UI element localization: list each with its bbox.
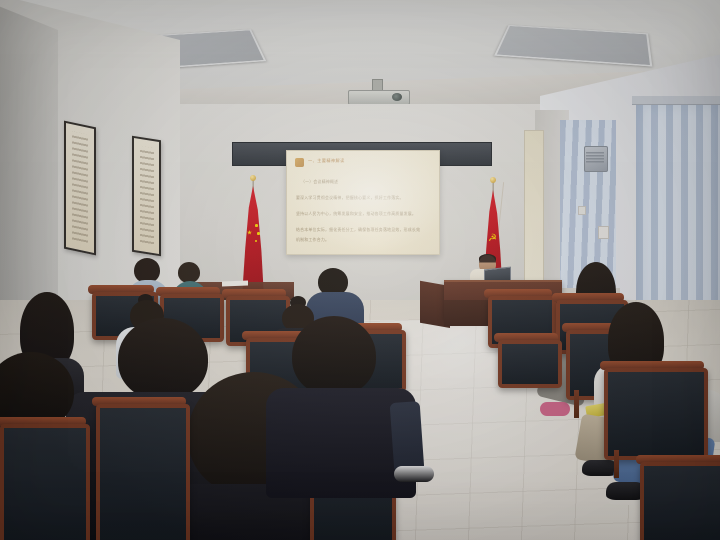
light-switch-icon[interactable]: [598, 226, 609, 239]
projection-screen: 一、主要精神解读 （一）会议精神概述 要深入学习贯彻会议精神，把握核心要义，抓好…: [286, 150, 440, 255]
scroll-ink: [140, 146, 154, 247]
wall-ac-vent-icon: [586, 152, 604, 164]
chair-back: [96, 404, 190, 540]
blinds-rail[interactable]: [632, 96, 720, 105]
flag-finial-icon: [250, 175, 256, 181]
scroll-ink: [72, 132, 88, 244]
wall-outlet-icon: [578, 206, 586, 215]
chair-back: [640, 462, 720, 540]
shoe: [394, 466, 434, 482]
chair-leg: [574, 390, 579, 418]
chair-back: [604, 368, 708, 460]
head: [292, 316, 376, 396]
chair[interactable]: [640, 462, 720, 540]
chair[interactable]: [0, 424, 82, 540]
head: [178, 262, 200, 283]
ceiling-projector: [348, 84, 408, 102]
chair-leg: [614, 450, 619, 478]
head: [118, 318, 208, 400]
hammer-sickle-icon: ☭: [488, 234, 497, 245]
leg: [390, 401, 425, 473]
chair-back: [498, 340, 562, 388]
vertical-blinds-right[interactable]: [636, 100, 720, 330]
front-window-strip: [524, 130, 544, 282]
projector-lens-icon: [392, 93, 402, 101]
calligraphy-scroll-2: [132, 136, 161, 257]
paper-sheet: [222, 281, 248, 287]
flag-star-small-icon: [257, 232, 260, 235]
calligraphy-scroll-1: [64, 121, 96, 256]
flag-star-small-icon: [255, 224, 258, 227]
chair[interactable]: [96, 404, 182, 540]
shoe: [540, 402, 570, 416]
meeting-room-photo: 一、主要精神解读 （一）会议精神概述 要深入学习贯彻会议精神，把握核心要义，抓好…: [0, 0, 720, 540]
chair-back: [0, 424, 90, 540]
chair[interactable]: [498, 340, 554, 380]
flag-finial-icon: [490, 177, 496, 183]
screen-glow: [287, 151, 439, 254]
chair[interactable]: [604, 368, 700, 452]
